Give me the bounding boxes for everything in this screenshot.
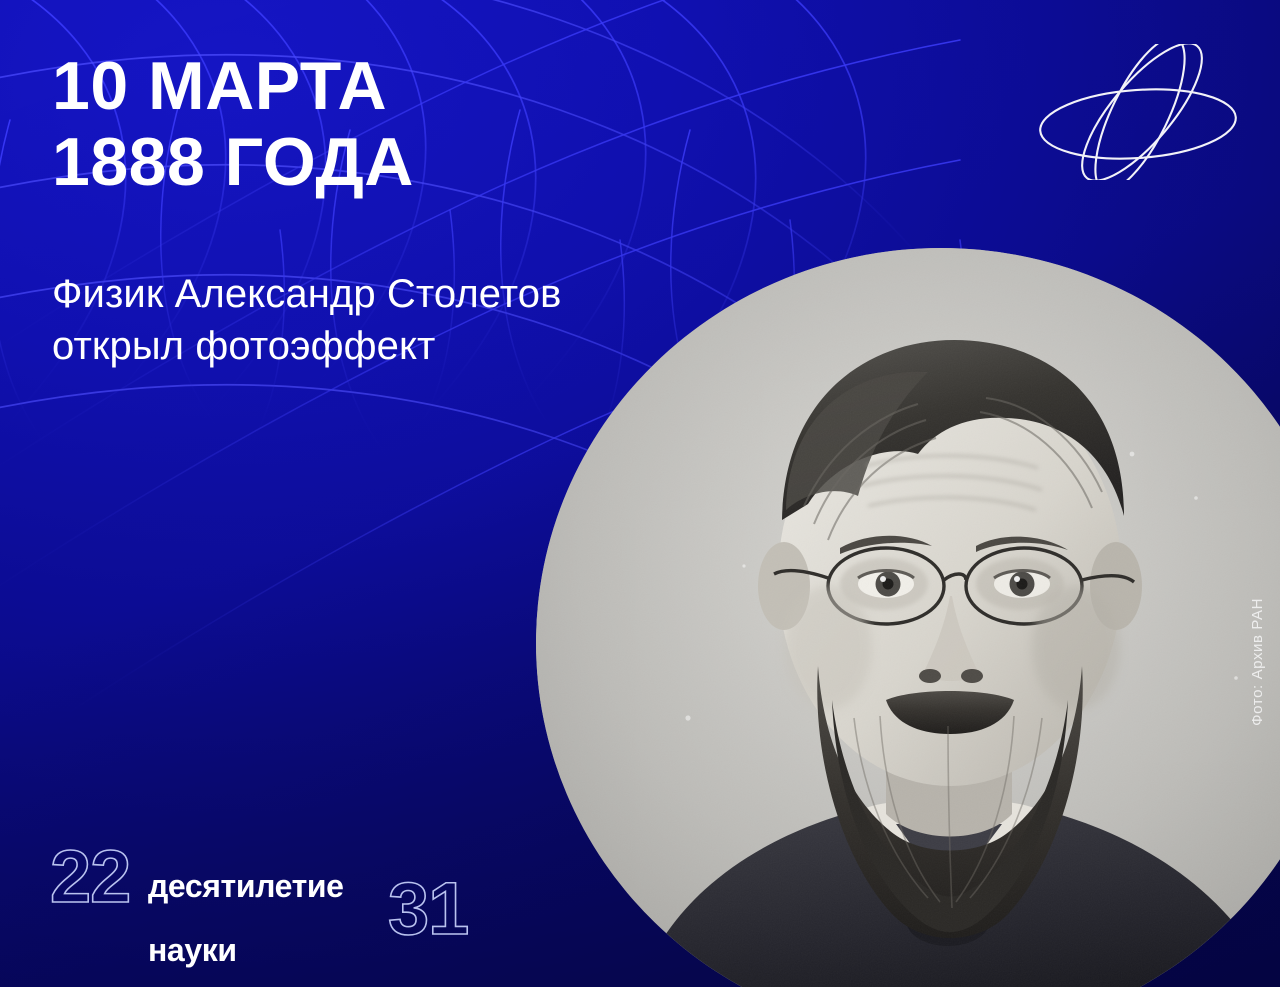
logo-number-31: 31: [388, 872, 468, 946]
logo-line-1: десятилетие: [148, 870, 353, 902]
logo-line-2: науки: [148, 934, 353, 966]
logo-number-22: 22: [50, 840, 130, 914]
decade-of-science-logo: 22 31 десятилетие науки и технологий: [50, 836, 490, 946]
poster-canvas: Фото: Архив РАН 10 МАРТА 1888 ГОДА Физик…: [0, 0, 1280, 987]
photo-credit: Фото: Архив РАН: [1244, 598, 1266, 798]
logo-wordmark: десятилетие науки и технологий: [148, 838, 353, 987]
page-subtitle: Физик Александр Столетов открыл фотоэффе…: [52, 268, 561, 372]
photo-credit-text: Фото: Архив РАН: [1249, 598, 1266, 726]
page-title: 10 МАРТА 1888 ГОДА: [52, 48, 414, 200]
atom-orbits-icon: [1032, 44, 1244, 180]
